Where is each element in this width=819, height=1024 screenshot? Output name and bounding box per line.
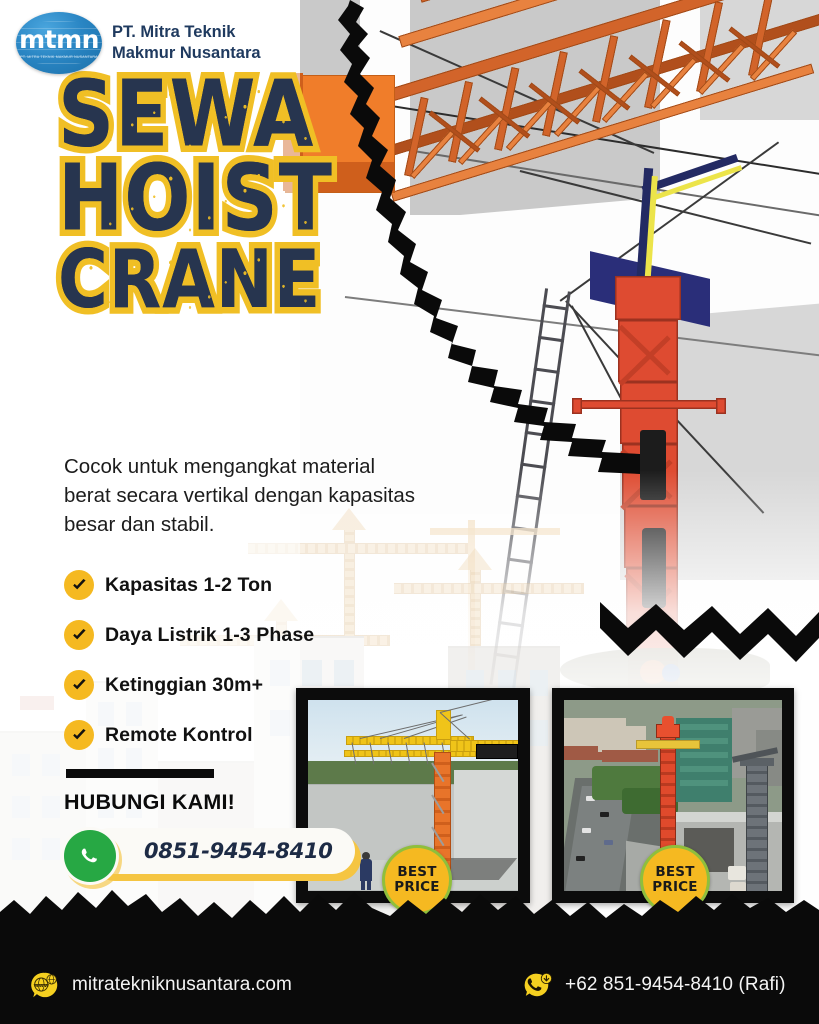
logo-mark-oval: mtmn PT. MITRA TEKNIK MAKMUR NUSANTARA [16,12,102,74]
feature-label: Kapasitas 1-2 Ton [105,574,272,597]
check-icon [64,570,94,600]
footer-website[interactable]: www mitratekniknusantara.com [30,970,292,1000]
phone-number: 0851-9454-8410 [144,839,333,863]
feature-label: Ketinggian 30m+ [105,674,263,697]
feature-label: Daya Listrik 1-3 Phase [105,624,314,647]
best-price-line1: BEST [655,865,694,880]
description-text: Cocok untuk mengangkat material berat se… [64,452,424,539]
headline: SEWA HOIST CRANE [58,78,333,304]
company-name-line1: PT. Mitra Teknik [112,22,261,43]
brand-logo[interactable]: mtmn PT. MITRA TEKNIK MAKMUR NUSANTARA P… [16,12,261,74]
footer-phone[interactable]: +62 851-9454-8410 (Rafi) [523,970,786,1000]
whatsapp-contact[interactable]: 0851-9454-8410 [64,828,355,874]
headline-line-2: HOIST [58,162,333,237]
svg-text:www: www [33,983,49,989]
feature-item: Daya Listrik 1-3 Phase [64,620,314,650]
contact-heading: HUBUNGI KAMI! [64,790,235,815]
phone-chat-icon [523,970,553,1000]
best-price-line1: BEST [397,865,436,880]
feature-list: Kapasitas 1-2 Ton Daya Listrik 1-3 Phase… [64,570,314,770]
logo-tagline: PT. MITRA TEKNIK MAKMUR NUSANTARA [20,55,98,59]
www-globe-icon: www [30,970,60,1000]
check-icon [64,670,94,700]
headline-line-3: CRANE [58,248,333,314]
footer-bar: www mitratekniknusantara.com +62 851-945… [0,946,819,1024]
feature-item: Remote Kontrol [64,720,314,750]
headline-text-3: CRANE [58,234,321,327]
headline-line-1: SEWA [58,78,333,153]
company-name: PT. Mitra Teknik Makmur Nusantara [112,22,261,64]
poster-canvas: mtmn PT. MITRA TEKNIK MAKMUR NUSANTARA P… [0,0,819,1024]
phone-text: +62 851-9454-8410 (Rafi) [565,974,786,996]
check-icon [64,720,94,750]
phone-pill[interactable]: 0851-9454-8410 [86,828,355,874]
feature-item: Kapasitas 1-2 Ton [64,570,314,600]
feature-item: Ketinggian 30m+ [64,670,314,700]
check-icon [64,620,94,650]
logo-mark-text: mtmn [19,27,99,52]
website-text: mitratekniknusantara.com [72,974,292,996]
feature-label: Remote Kontrol [105,724,253,747]
divider-rule [66,769,214,778]
torn-footer-edge [0,882,819,946]
company-name-line2: Makmur Nusantara [112,43,261,64]
whatsapp-icon[interactable] [64,830,116,882]
